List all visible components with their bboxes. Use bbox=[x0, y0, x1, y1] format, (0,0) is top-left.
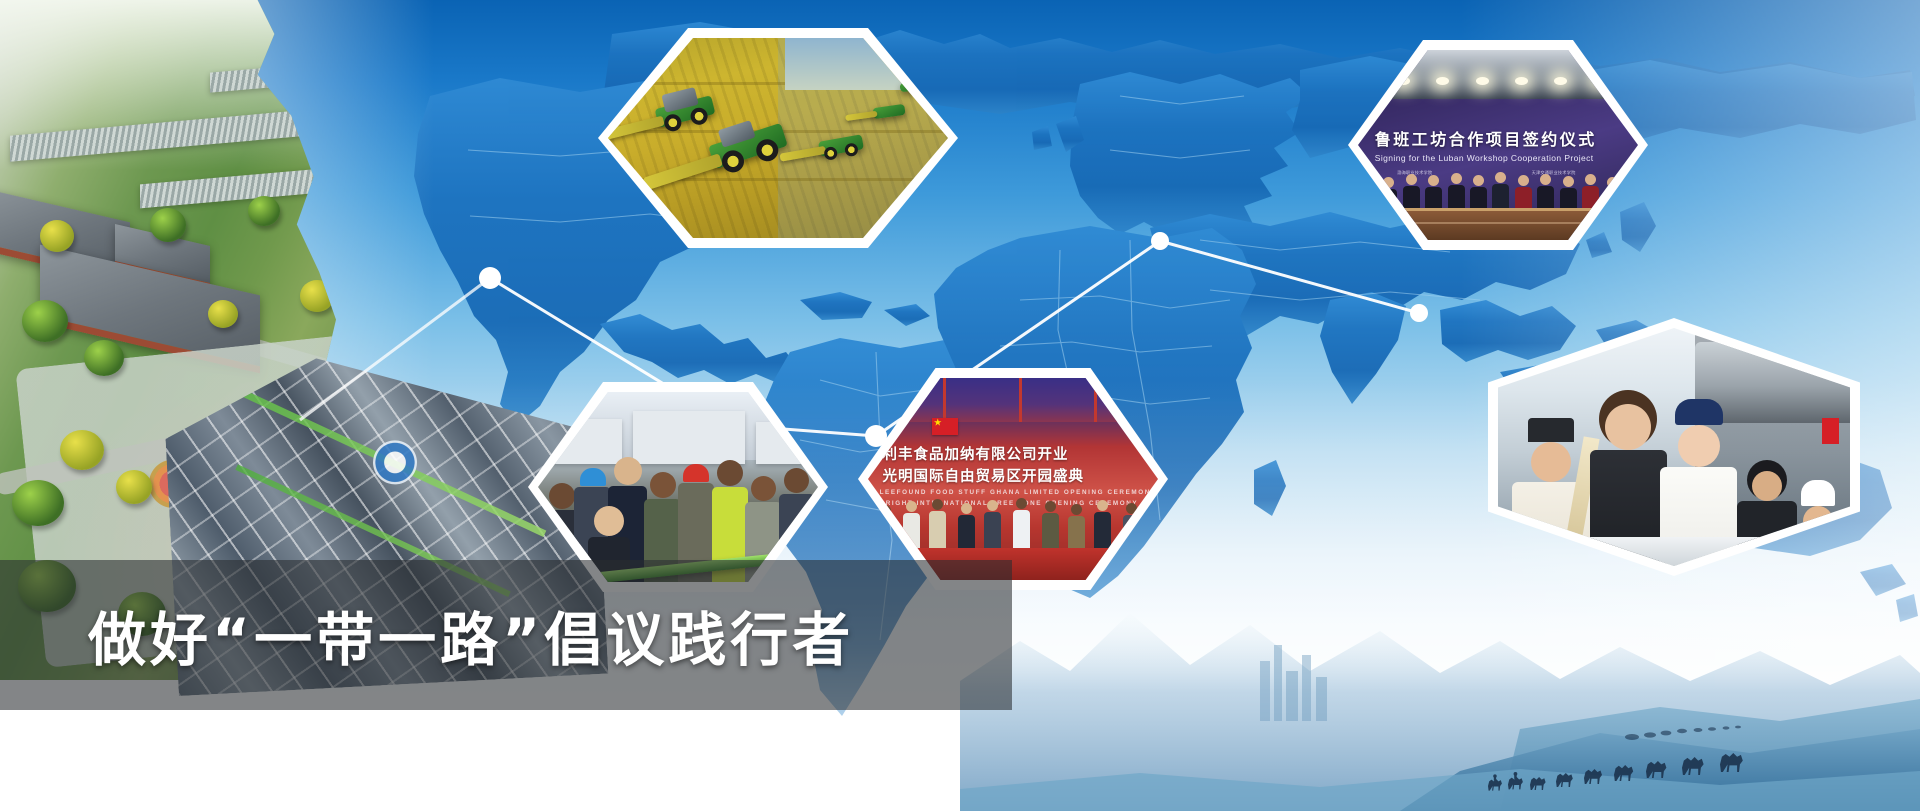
stage-light-icon bbox=[1515, 77, 1528, 85]
photo-inner: 鲁班工坊合作项目签约仪式 Signing for the Luban Works… bbox=[1358, 50, 1638, 240]
tree bbox=[22, 300, 68, 342]
leefound-zh-line2: 光明国际自由贸易区开园盛典 bbox=[883, 465, 1156, 486]
site-building bbox=[633, 411, 745, 464]
luban-headline-zh: 鲁班工坊合作项目签约仪式 bbox=[1375, 126, 1638, 150]
stage-light-icon bbox=[1476, 77, 1489, 85]
combine-harvester bbox=[654, 95, 715, 127]
leefound-zh-line1: 利丰食品加纳有限公司开业 bbox=[883, 443, 1156, 464]
combine-harvester bbox=[818, 134, 864, 156]
tree bbox=[116, 470, 152, 504]
tree bbox=[12, 480, 64, 526]
page-title: 做好“一带一路”倡议践行者 bbox=[88, 560, 988, 710]
photo-inner bbox=[1498, 328, 1850, 566]
tree bbox=[60, 430, 104, 470]
stage-light-icon bbox=[1554, 77, 1567, 85]
tree bbox=[248, 196, 280, 226]
guest-row bbox=[868, 495, 1158, 548]
tree bbox=[208, 300, 238, 328]
tree bbox=[40, 220, 74, 252]
china-flag-icon bbox=[1822, 418, 1839, 444]
combine-harvester bbox=[708, 123, 788, 169]
photo-inner: 利丰食品加纳有限公司开业 光明国际自由贸易区开园盛典 LEEFOUND FOOD… bbox=[868, 378, 1158, 580]
photo-inner bbox=[608, 38, 948, 238]
combine-harvester bbox=[873, 104, 906, 119]
stage-light-icon bbox=[1436, 77, 1449, 85]
stage-light-icon bbox=[1397, 77, 1410, 85]
photo-inner bbox=[538, 392, 818, 582]
delegation-group bbox=[1358, 153, 1638, 210]
tree bbox=[150, 208, 186, 242]
building-logo-icon bbox=[368, 435, 423, 490]
banner-root: 鲁班工坊合作项目签约仪式 Signing for the Luban Works… bbox=[0, 0, 1920, 811]
china-flag-icon bbox=[932, 418, 958, 435]
tree bbox=[84, 340, 124, 376]
